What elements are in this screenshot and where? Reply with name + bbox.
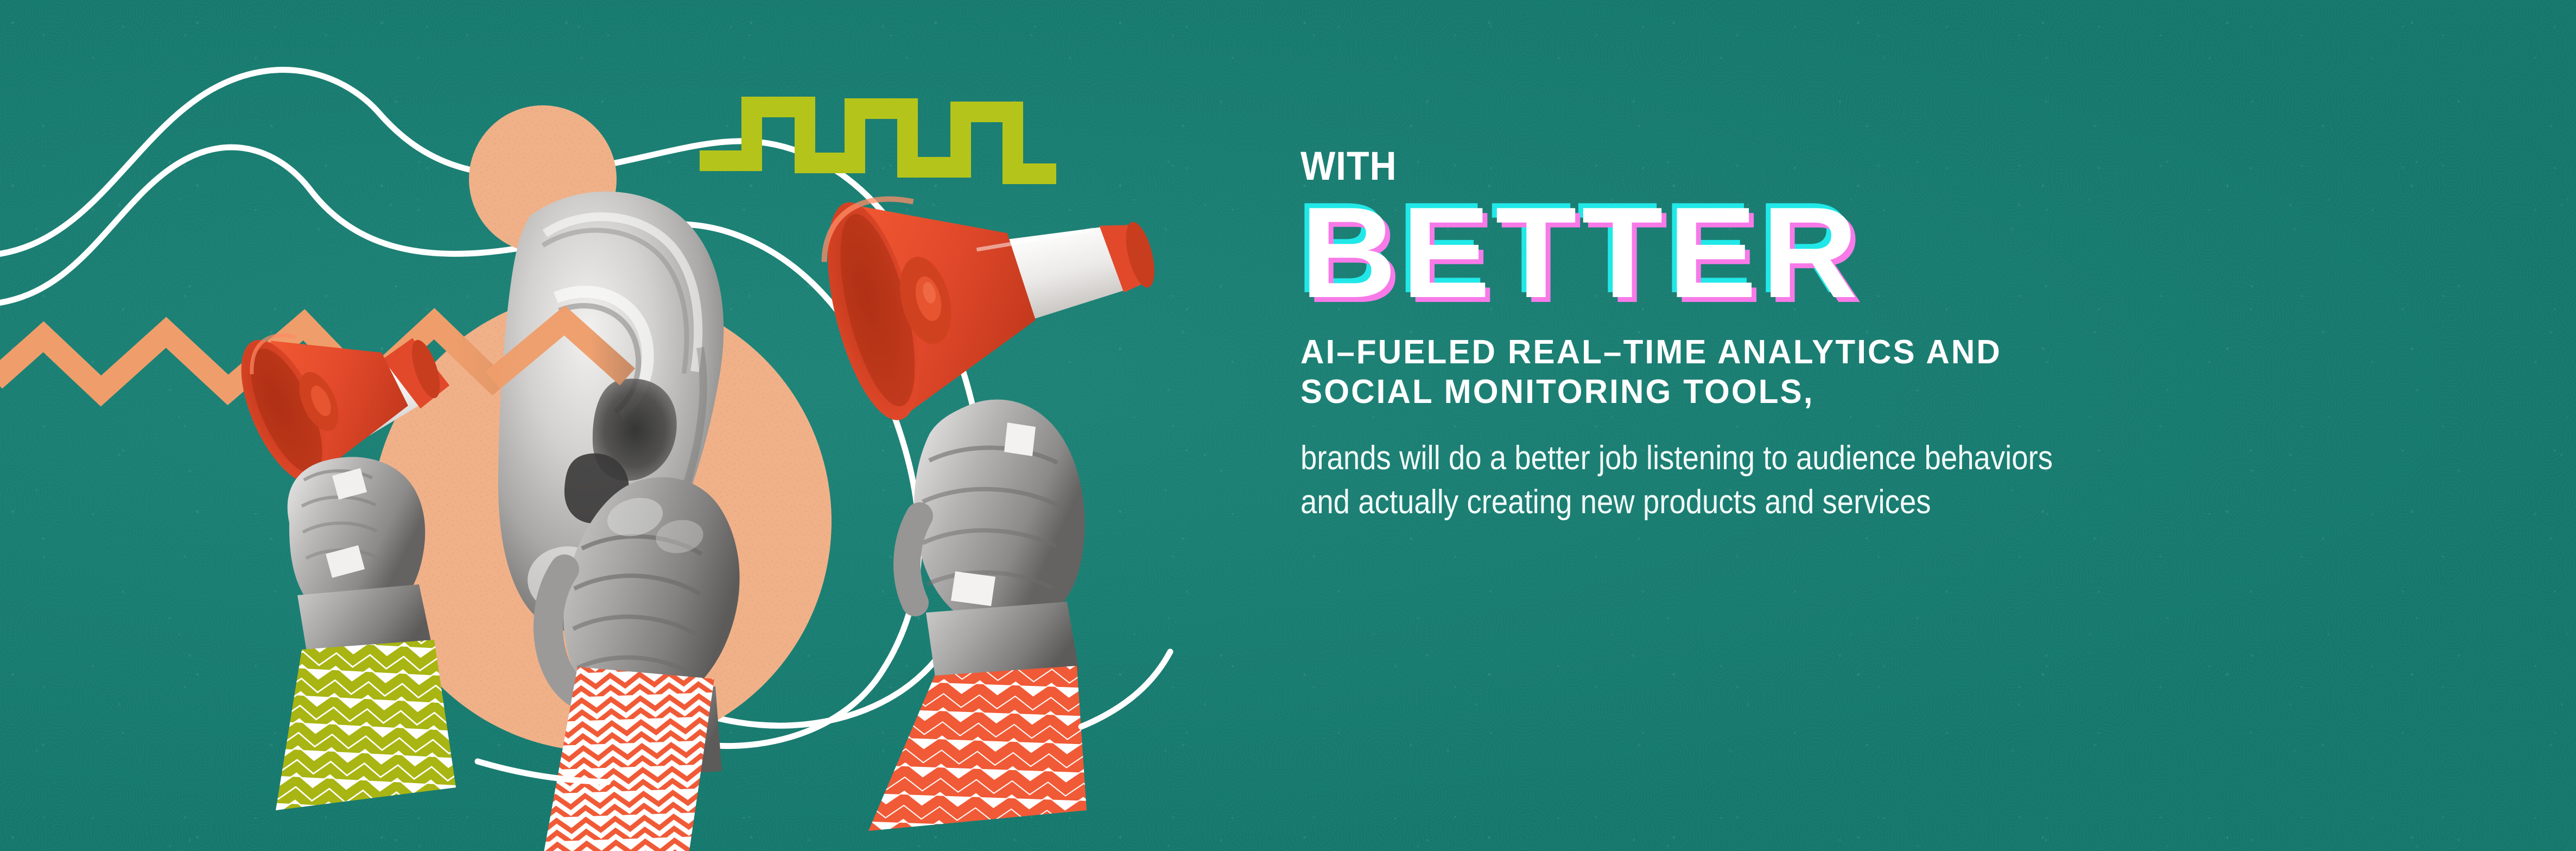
headline-group: BETTER BETTER BETTER [1300, 188, 2484, 319]
fist-left [288, 457, 432, 655]
body-copy-line-2: and actually creating new products and s… [1300, 481, 2342, 525]
promo-banner: WITH BETTER BETTER BETTER AI–FUELED REAL… [0, 0, 2576, 851]
subheadline-line-2: SOCIAL MONITORING TOOLS, [1300, 373, 2448, 412]
body-copy: brands will do a better job listening to… [1300, 437, 2342, 524]
zigzag-olive [700, 107, 1056, 174]
megaphone-right [809, 134, 1176, 428]
subheadline: AI–FUELED REAL–TIME ANALYTICS AND SOCIAL… [1300, 333, 2448, 412]
fist-right [907, 400, 1084, 681]
subheadline-line-1: AI–FUELED REAL–TIME ANALYTICS AND [1300, 333, 2448, 373]
body-copy-line-1: brands will do a better job listening to… [1300, 437, 2342, 481]
sleeve-left-chevron [276, 640, 456, 810]
copy-block: WITH BETTER BETTER BETTER AI–FUELED REAL… [1300, 147, 2484, 524]
headline-text: BETTER [1300, 188, 1863, 318]
collage-artwork [0, 0, 1265, 851]
